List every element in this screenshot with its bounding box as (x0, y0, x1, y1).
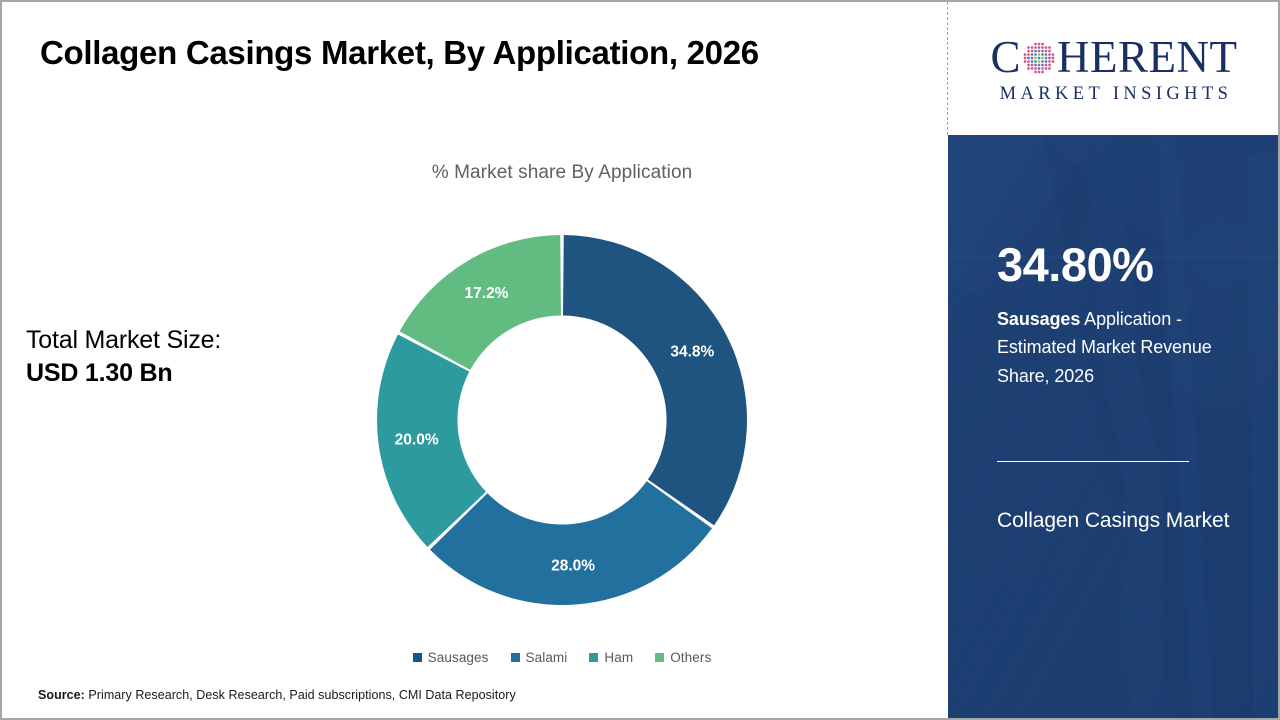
globe-dot (1034, 67, 1037, 70)
legend-swatch-icon (589, 653, 598, 662)
donut-slice-label-salami: 28.0% (551, 557, 595, 574)
legend-swatch-icon (655, 653, 664, 662)
donut-slice-group (377, 235, 747, 605)
page-title: Collagen Casings Market, By Application,… (40, 34, 910, 72)
globe-dot (1045, 53, 1048, 56)
legend-label: Ham (604, 650, 633, 665)
source-footer: Source: Primary Research, Desk Research,… (38, 688, 516, 702)
brand-logo[interactable]: C HERENT MARKET INSIGHTS (948, 2, 1280, 135)
globe-dot (1024, 60, 1027, 63)
chart-legend: SausagesSalamiHamOthers (302, 650, 822, 665)
legend-item-sausages[interactable]: Sausages (413, 650, 489, 665)
legend-label: Salami (526, 650, 568, 665)
globe-dot (1041, 71, 1044, 74)
globe-dot (1038, 64, 1041, 67)
globe-dot (1038, 46, 1041, 49)
globe-dot (1027, 46, 1030, 49)
globe-dot (1045, 60, 1048, 63)
globe-dot (1034, 46, 1037, 49)
globe-dot (1031, 64, 1034, 67)
globe-dot (1052, 53, 1055, 56)
globe-dot (1031, 57, 1034, 60)
globe-dot (1034, 50, 1037, 53)
globe-dot (1052, 60, 1055, 63)
globe-dot (1034, 71, 1037, 74)
globe-dot (1041, 60, 1044, 63)
globe-dot (1052, 57, 1055, 60)
right-rail: C HERENT MARKET INSIGHTS (948, 2, 1280, 718)
globe-dot (1027, 57, 1030, 60)
globe-dot (1045, 50, 1048, 53)
globe-dot (1027, 50, 1030, 53)
panel-rule (997, 461, 1189, 462)
globe-dot (1038, 71, 1041, 74)
legend-item-others[interactable]: Others (655, 650, 711, 665)
globe-dot (1027, 67, 1030, 70)
chart-subtitle: % Market share By Application (302, 162, 822, 184)
globe-dot (1041, 67, 1044, 70)
logo-tagline: MARKET INSIGHTS (996, 84, 1233, 105)
legend-item-ham[interactable]: Ham (589, 650, 633, 665)
donut-slice-label-others: 17.2% (465, 285, 509, 302)
donut-slice-label-ham: 20.0% (395, 431, 439, 448)
donut-chart-svg: 34.8%28.0%20.0%17.2% (372, 230, 752, 610)
globe-dot (1048, 50, 1051, 53)
source-text: Primary Research, Desk Research, Paid su… (85, 688, 516, 702)
globe-dot (1038, 50, 1041, 53)
globe-dot (1048, 57, 1051, 60)
legend-label: Sausages (428, 650, 489, 665)
globe-dot (1048, 53, 1051, 56)
highlight-panel-content: 34.80% Sausages Application - Estimated … (948, 135, 1280, 718)
legend-swatch-icon (511, 653, 520, 662)
donut-slice-sausages[interactable] (563, 235, 747, 525)
dotted-globe-icon (1022, 41, 1056, 75)
stat-description-highlight: Sausages (997, 309, 1080, 329)
globe-dot (1034, 43, 1037, 46)
market-name: Collagen Casings Market (997, 503, 1247, 539)
globe-dot (1031, 46, 1034, 49)
stat-description: Sausages Application - Estimated Market … (997, 305, 1237, 390)
globe-dot (1038, 43, 1041, 46)
globe-dot (1048, 67, 1051, 70)
legend-label: Others (670, 650, 711, 665)
globe-dot (1041, 50, 1044, 53)
logo-letters-herent: HERENT (1057, 35, 1237, 80)
chart-panel: Collagen Casings Market, By Application,… (2, 2, 948, 718)
globe-dot (1048, 46, 1051, 49)
logo-letter-c: C (991, 35, 1022, 80)
globe-dot (1031, 53, 1034, 56)
globe-dot (1024, 57, 1027, 60)
total-market-size-value: USD 1.30 Bn (26, 357, 296, 390)
slide-canvas: Collagen Casings Market, By Application,… (0, 0, 1280, 720)
globe-dot (1038, 67, 1041, 70)
globe-dot (1045, 46, 1048, 49)
total-market-size-label: Total Market Size: (26, 324, 296, 357)
globe-dot (1034, 60, 1037, 63)
globe-dot (1034, 53, 1037, 56)
globe-dot (1031, 60, 1034, 63)
legend-item-salami[interactable]: Salami (511, 650, 568, 665)
globe-dot (1048, 64, 1051, 67)
globe-dot (1041, 57, 1044, 60)
legend-swatch-icon (413, 653, 422, 662)
globe-dot (1041, 53, 1044, 56)
donut-chart: 34.8%28.0%20.0%17.2% (372, 230, 752, 610)
globe-dot (1034, 64, 1037, 67)
globe-dot (1045, 57, 1048, 60)
stat-value: 34.80% (997, 241, 1153, 288)
source-label: Source: (38, 688, 85, 702)
globe-dot (1034, 57, 1037, 60)
highlight-panel: 34.80% Sausages Application - Estimated … (948, 135, 1280, 718)
donut-slice-label-sausages: 34.8% (670, 344, 714, 361)
globe-dot (1048, 60, 1051, 63)
globe-dot (1031, 50, 1034, 53)
globe-dot (1041, 43, 1044, 46)
globe-dot (1027, 60, 1030, 63)
total-market-size-block: Total Market Size: USD 1.30 Bn (26, 324, 296, 390)
globe-dot (1045, 67, 1048, 70)
globe-dot (1027, 53, 1030, 56)
globe-dot (1038, 57, 1041, 60)
globe-dot (1041, 64, 1044, 67)
globe-dot (1031, 67, 1034, 70)
globe-dot (1038, 53, 1041, 56)
globe-dot (1027, 64, 1030, 67)
globe-dot (1024, 53, 1027, 56)
globe-dot (1041, 46, 1044, 49)
globe-dot (1038, 60, 1041, 63)
globe-dot (1045, 64, 1048, 67)
logo-wordmark: C HERENT (991, 32, 1238, 82)
